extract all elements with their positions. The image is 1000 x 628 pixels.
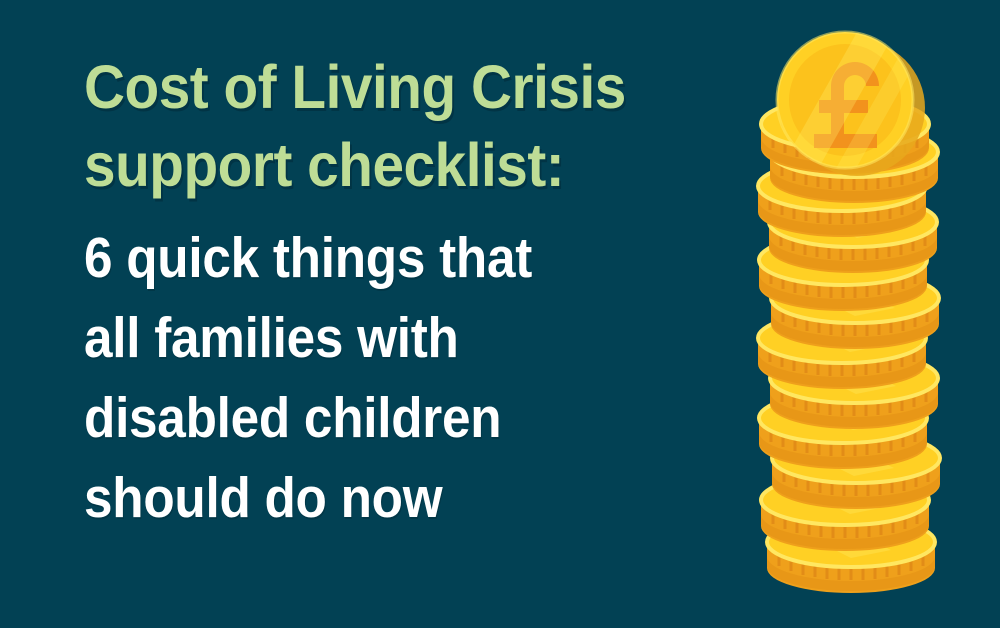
subheadline-line-2: all families with <box>84 298 678 378</box>
headline: Cost of Living Crisis support checklist: <box>84 48 744 204</box>
subheadline-line-3: disabled children <box>84 378 678 458</box>
subheadline-line-1: 6 quick things that <box>84 218 678 298</box>
coin-stack-illustration <box>735 8 965 620</box>
headline-line-2: support checklist: <box>84 126 698 204</box>
headline-line-1: Cost of Living Crisis <box>84 48 698 126</box>
subheadline-line-4: should do now <box>84 458 678 538</box>
text-block: Cost of Living Crisis support checklist:… <box>84 48 744 538</box>
subheadline: 6 quick things that all families with di… <box>84 218 744 538</box>
poster-canvas: Cost of Living Crisis support checklist:… <box>0 0 1000 628</box>
